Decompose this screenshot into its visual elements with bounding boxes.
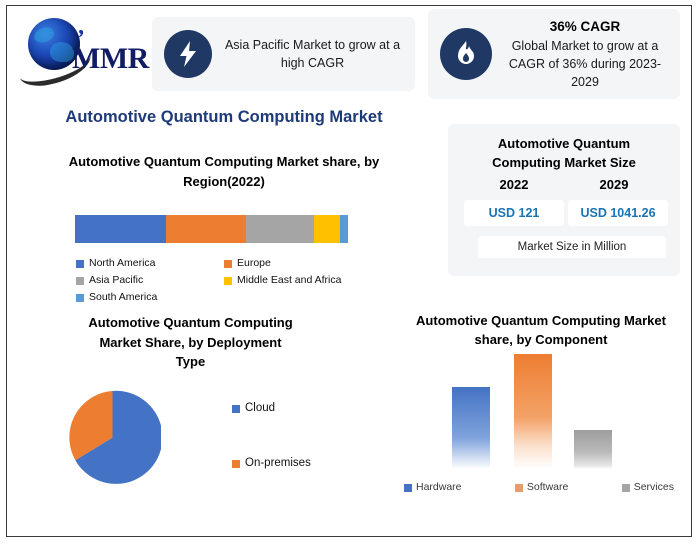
lightning-bolt-icon: [164, 30, 212, 78]
legend-item-hardware: Hardware: [404, 480, 462, 495]
region-segment-asia-pacific: [246, 215, 314, 243]
legend-label: Cloud: [245, 401, 275, 416]
legend-swatch-icon: [404, 484, 412, 492]
badge-asia-pacific: Asia Pacific Market to grow at a high CA…: [152, 17, 415, 91]
market-size-year-2029: 2029: [564, 177, 664, 192]
region-stacked-bar: [75, 215, 348, 243]
chart-deployment-title: Automotive Quantum Computing Market Shar…: [83, 313, 298, 372]
chart-deployment-share: Automotive Quantum Computing Market Shar…: [18, 313, 363, 372]
chart-component-share: Automotive Quantum Computing Market shar…: [396, 312, 686, 350]
legend-item-on-premises: On-premises: [232, 456, 362, 471]
market-size-year-2022: 2022: [464, 177, 564, 192]
badge-cagr-text: 36% CAGR Global Market to grow at a CAGR…: [502, 17, 668, 92]
pie-chart-area: Cloud On-premises: [64, 393, 364, 503]
legend-label: North America: [89, 256, 156, 271]
page-title: Automotive Quantum Computing Market: [24, 108, 424, 127]
market-size-values: USD 121 USD 1041.26: [464, 200, 668, 226]
badge-asia-pacific-text: Asia Pacific Market to grow at a high CA…: [222, 36, 403, 72]
legend-swatch-icon: [76, 260, 84, 268]
market-size-title: Automotive Quantum Computing Market Size: [462, 135, 666, 173]
chart-component-title: Automotive Quantum Computing Market shar…: [411, 312, 671, 350]
legend-label: Software: [527, 480, 568, 495]
legend-swatch-icon: [76, 277, 84, 285]
badge-cagr-heading: 36% CAGR: [502, 17, 668, 37]
bar-software: [514, 354, 552, 469]
chart-region-share: Automotive Quantum Computing Market shar…: [24, 152, 424, 191]
market-size-value-2022: USD 121: [464, 200, 564, 226]
legend-swatch-icon: [76, 294, 84, 302]
market-size-panel: Automotive Quantum Computing Market Size…: [448, 124, 680, 276]
legend-item-north-america: North America: [76, 256, 224, 271]
legend-item-south-america: South America: [76, 290, 224, 305]
legend-swatch-icon: [224, 260, 232, 268]
component-plot-area: [436, 354, 651, 469]
chart-region-title: Automotive Quantum Computing Market shar…: [44, 152, 404, 191]
legend-swatch-icon: [224, 277, 232, 285]
pie-chart: [64, 389, 161, 486]
bar-hardware: [452, 387, 490, 469]
legend-label: Services: [634, 480, 674, 495]
legend-swatch-icon: [622, 484, 630, 492]
legend-swatch-icon: [232, 460, 240, 468]
legend-item-services: Services: [622, 480, 674, 495]
region-segment-europe: [166, 215, 245, 243]
market-size-value-2029: USD 1041.26: [568, 200, 668, 226]
legend-label: On-premises: [245, 456, 311, 471]
legend-item-europe: Europe: [224, 256, 376, 271]
legend-label: Europe: [237, 256, 271, 271]
market-size-unit-note: Market Size in Million: [478, 236, 666, 258]
market-size-years: 2022 2029: [464, 177, 664, 192]
badge-cagr: 36% CAGR Global Market to grow at a CAGR…: [428, 9, 680, 99]
legend-item-software: Software: [515, 480, 568, 495]
badge-cagr-body: Global Market to grow at a CAGR of 36% d…: [509, 39, 661, 89]
region-segment-south-america: [340, 215, 348, 243]
legend-label: Asia Pacific: [89, 273, 143, 288]
legend-label: South America: [89, 290, 157, 305]
legend-swatch-icon: [232, 405, 240, 413]
region-legend: North America Europe Asia Pacific Middle…: [76, 256, 376, 305]
legend-item-middle-east-africa: Middle East and Africa: [224, 273, 376, 288]
pie-legend: Cloud On-premises: [232, 401, 362, 511]
legend-item-asia-pacific: Asia Pacific: [76, 273, 224, 288]
component-legend: Hardware Software Services: [404, 480, 674, 495]
region-segment-north-america: [75, 215, 166, 243]
legend-label: Middle East and Africa: [237, 273, 341, 288]
flame-icon: [440, 28, 492, 80]
mmr-logo: ’ MMR: [16, 12, 156, 84]
region-segment-middle-east-africa: [314, 215, 340, 243]
legend-item-cloud: Cloud: [232, 401, 362, 416]
bar-services: [574, 430, 612, 469]
logo-text: MMR: [72, 42, 149, 76]
legend-swatch-icon: [515, 484, 523, 492]
legend-label: Hardware: [416, 480, 462, 495]
infographic-canvas: ’ MMR Asia Pacific Market to grow at a h…: [0, 0, 699, 544]
